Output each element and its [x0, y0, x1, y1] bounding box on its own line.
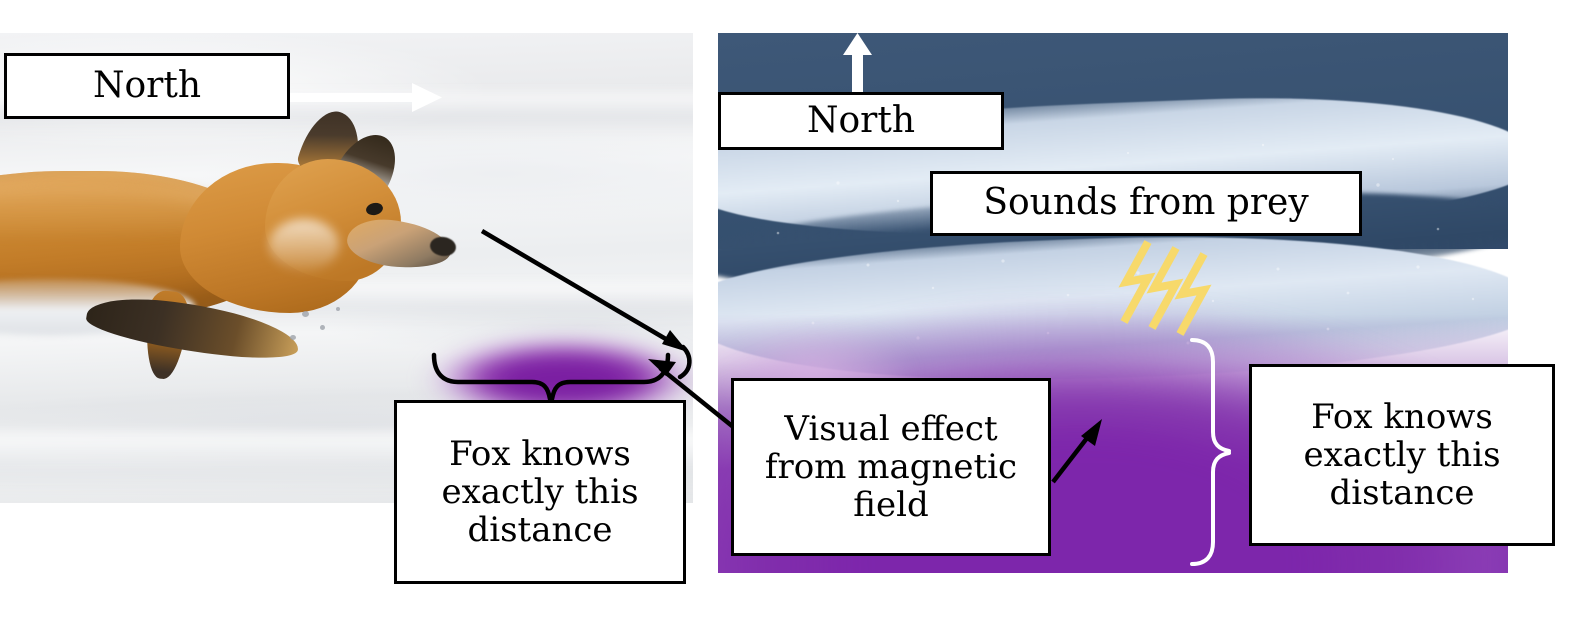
figure-stage: North Fox knows exactly this distance No… [0, 0, 1572, 636]
sounds-from-prey-label[interactable]: Sounds from prey [930, 171, 1362, 236]
distance-label-left-text: Fox knows exactly this distance [397, 435, 683, 549]
visual-effect-text: Visual effect from magnetic field [734, 410, 1048, 524]
sound-zigzag-bolts-icon [1118, 238, 1233, 356]
distance-label-right[interactable]: Fox knows exactly this distance [1249, 364, 1555, 546]
snow-spray [320, 325, 325, 330]
north-label-right[interactable]: North [718, 92, 1004, 150]
distance-label-right-text: Fox knows exactly this distance [1252, 398, 1552, 512]
snow-spray [302, 311, 309, 317]
distance-label-left[interactable]: Fox knows exactly this distance [394, 400, 686, 584]
north-label-left[interactable]: North [4, 53, 290, 119]
fox-figure [0, 129, 410, 399]
sounds-from-prey-text: Sounds from prey [933, 183, 1359, 223]
north-label-right-text: North [721, 101, 1001, 141]
visual-effect-label[interactable]: Visual effect from magnetic field [731, 378, 1051, 556]
north-label-left-text: North [7, 66, 287, 106]
snow-spray [290, 335, 296, 340]
snow-spray [336, 307, 340, 311]
